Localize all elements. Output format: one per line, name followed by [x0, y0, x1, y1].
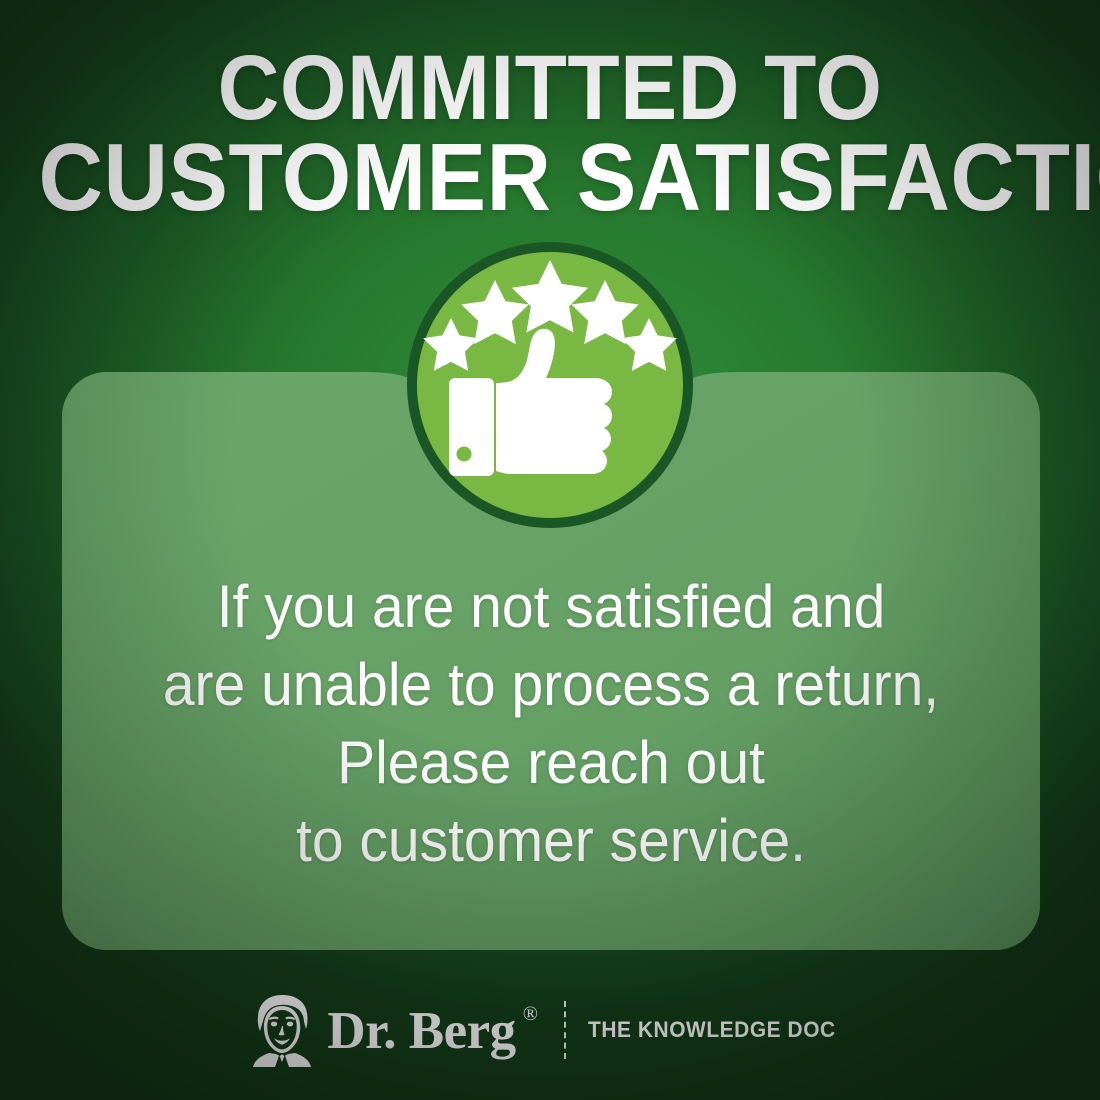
satisfaction-promo-poster: COMMITTED TO CUSTOMER SATISFACTION If yo… [0, 0, 1100, 1100]
card-body-text: If you are not satisfied and are unable … [86, 568, 1015, 880]
brand-name: Dr. Berg [327, 1005, 515, 1058]
brand-divider [564, 1001, 566, 1059]
cuff-button [457, 447, 472, 462]
card-body-line-4: to customer service. [86, 802, 1015, 880]
headline-line-2: CUSTOMER SATISFACTION [39, 132, 1062, 224]
cuff [449, 378, 494, 476]
five-star-thumbs-up-badge [407, 242, 693, 528]
headline-line-1: COMMITTED TO [39, 44, 1062, 132]
page-title: COMMITTED TO CUSTOMER SATISFACTION [39, 44, 1062, 224]
card-body-line-2: are unable to process a return, [86, 646, 1015, 724]
card-body-line-3: Please reach out [86, 724, 1015, 802]
registered-trademark-icon: ® [523, 1004, 538, 1024]
brand-tagline: THE KNOWLEDGE DOC [588, 1017, 836, 1043]
brand-footer: Dr. Berg ® THE KNOWLEDGE DOC [0, 985, 1100, 1075]
dr-berg-portrait-icon [251, 993, 313, 1067]
card-body-line-1: If you are not satisfied and [86, 568, 1015, 646]
